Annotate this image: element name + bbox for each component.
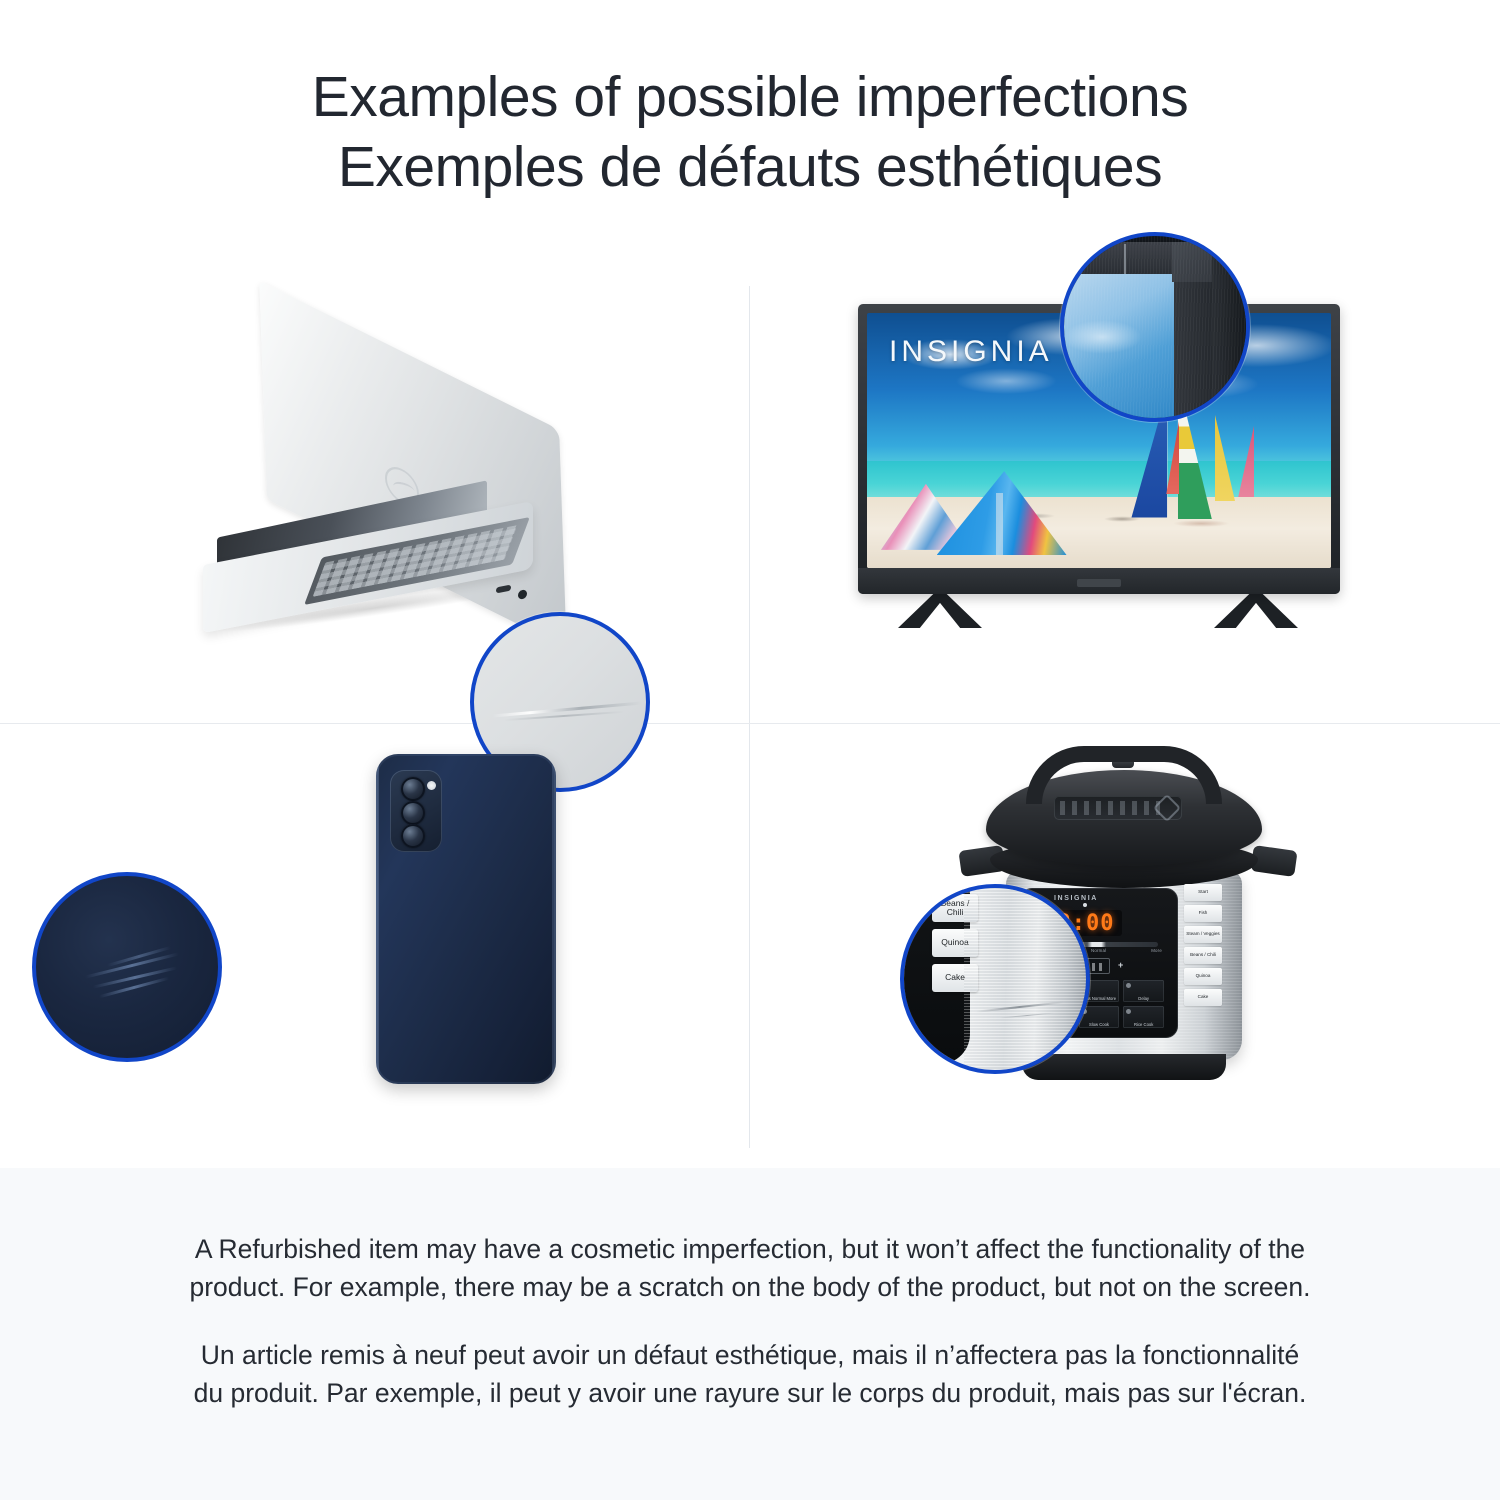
tv-chin xyxy=(858,568,1340,594)
cooker-key[interactable]: Cake xyxy=(1184,989,1222,1006)
tent-stripe xyxy=(996,493,1003,555)
camera-module xyxy=(390,770,442,852)
button-label: Slow Cook xyxy=(1089,1023,1109,1027)
tv-leg-right xyxy=(1214,594,1298,628)
magnifier-circle-phone xyxy=(32,872,222,1062)
cooker-button[interactable]: Rice Cook xyxy=(1123,1006,1164,1028)
cooker-lid-handle xyxy=(1026,746,1222,804)
zoom-steel-grain xyxy=(964,888,1090,1070)
tile-tv: INSIGNIA xyxy=(750,262,1500,723)
footer-paragraph-en: A Refurbished item may have a cosmetic i… xyxy=(185,1230,1315,1306)
scratch-mark xyxy=(99,977,169,999)
tile-laptop xyxy=(0,262,750,723)
camera-lens-icon xyxy=(401,777,425,801)
page-title-fr: Exemples de défauts esthétiques xyxy=(338,132,1162,202)
zoom-texture-grain xyxy=(1064,236,1246,418)
tile-phone xyxy=(0,724,750,1168)
cooker-key[interactable]: Beans / Chili xyxy=(1184,947,1222,964)
slider-label-more: More xyxy=(1151,948,1162,953)
increase-button[interactable]: + xyxy=(1118,960,1123,970)
magnifier-circle-tv xyxy=(1060,232,1250,422)
footer-paragraph-fr: Un article remis à neuf peut avoir un dé… xyxy=(185,1336,1315,1412)
zoom-side-label: lay xyxy=(900,922,908,931)
cooker-key[interactable]: Start xyxy=(1184,884,1222,901)
cooker-key[interactable]: Steam / Veggies xyxy=(1184,926,1222,943)
magnifier-circle-cooker: lay Cook Beans / Chili Quinoa Cake xyxy=(900,884,1090,1074)
header: Examples of possible imperfections Exemp… xyxy=(0,0,1500,262)
zoom-side-labels: lay Cook xyxy=(900,922,908,956)
zoom-side-label: Cook xyxy=(900,947,908,956)
cooker-key[interactable]: Quinoa xyxy=(1184,968,1222,985)
laptop-illustration xyxy=(0,262,750,723)
cooker-key[interactable]: Fish xyxy=(1184,905,1222,922)
refurbished-imperfections-infographic: Examples of possible imperfections Exemp… xyxy=(0,0,1500,1500)
camera-lens-icon xyxy=(401,801,425,825)
cooker-illustration: INSIGNIA 8:00 Less Normal More − xyxy=(750,724,1500,1168)
button-label: Delay xyxy=(1138,997,1149,1001)
cooker-button[interactable]: Delay xyxy=(1123,980,1164,1002)
phone-graphic xyxy=(376,754,576,1094)
tv-illustration: INSIGNIA xyxy=(750,262,1500,723)
tile-pressure-cooker: INSIGNIA 8:00 Less Normal More − xyxy=(750,724,1500,1168)
cooker-right-keys: Start Fish Steam / Veggies Beans / Chili… xyxy=(1184,884,1222,1006)
slider-label-normal: Normal xyxy=(1091,948,1106,953)
button-label: Rice Cook xyxy=(1134,1023,1153,1027)
tv-indicator-led xyxy=(1077,579,1121,587)
footer-description: A Refurbished item may have a cosmetic i… xyxy=(0,1168,1500,1500)
page-title-en: Examples of possible imperfections xyxy=(312,62,1188,132)
flash-icon xyxy=(427,781,436,790)
tv-brand-label: INSIGNIA xyxy=(889,335,1053,369)
phone-illustration xyxy=(0,724,750,1168)
camera-lens-icon xyxy=(401,824,425,848)
laptop-graphic xyxy=(185,357,545,647)
tv-leg-left xyxy=(898,594,982,628)
sea xyxy=(867,461,1331,502)
examples-grid: INSIGNIA xyxy=(0,262,1500,1168)
